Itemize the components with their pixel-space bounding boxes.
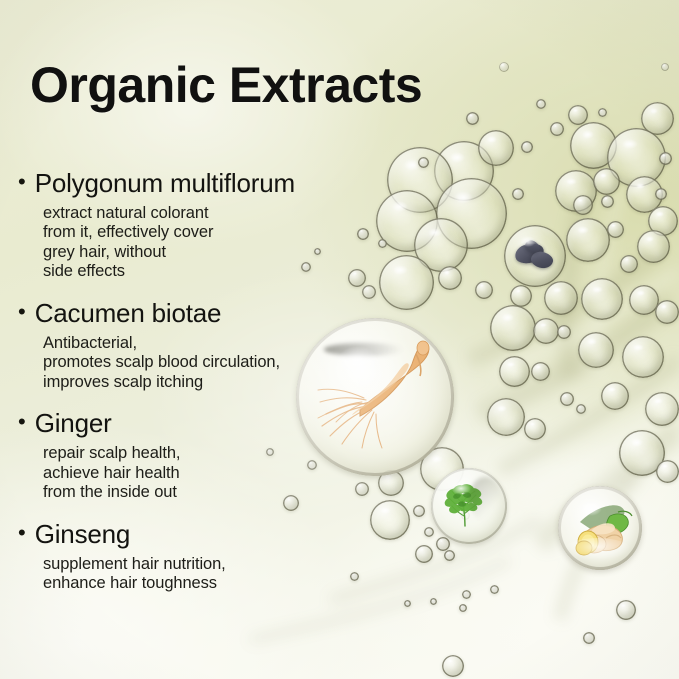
- bubble: [379, 255, 434, 310]
- bubble: [370, 500, 410, 540]
- bubble: [362, 285, 376, 299]
- ginger-specimen: [558, 486, 642, 570]
- description-line: supplement hair nutrition,: [43, 555, 348, 574]
- description-line: repair scalp health,: [43, 444, 348, 463]
- bubble: [655, 300, 679, 324]
- description-line: from the inside out: [43, 483, 348, 502]
- bubble: [661, 63, 669, 71]
- cacumen-biotae-bubble: [431, 468, 507, 544]
- bubble: [620, 255, 638, 273]
- bubble: [512, 188, 524, 200]
- extract-heading: • Cacumen biotae: [18, 298, 348, 329]
- bubble: [442, 655, 464, 677]
- ginger-root-bubble: [558, 486, 642, 570]
- description-line: side effects: [43, 262, 348, 281]
- page-title: Organic Extracts: [30, 56, 422, 114]
- bubble: [659, 152, 672, 165]
- extract-heading: • Ginseng: [18, 519, 348, 550]
- bubble: [583, 632, 595, 644]
- bubble: [490, 585, 499, 594]
- bubble: [466, 112, 479, 125]
- description-line: improves scalp itching: [43, 373, 348, 392]
- bubble: [378, 239, 387, 248]
- bubble: [550, 122, 564, 136]
- bubble: [531, 362, 550, 381]
- bubble: [418, 157, 429, 168]
- bubble: [499, 62, 509, 72]
- bubble: [560, 392, 574, 406]
- bubble: [348, 269, 366, 287]
- bullet-icon: •: [18, 301, 26, 323]
- description-line: enhance hair toughness: [43, 574, 348, 593]
- extract-description: Antibacterial, promotes scalp blood circ…: [43, 334, 348, 392]
- bubble: [430, 598, 437, 605]
- bubble: [573, 195, 593, 215]
- bubble: [413, 505, 425, 517]
- bubble: [475, 281, 493, 299]
- extract-item-ginseng: • Ginseng supplement hair nutrition, enh…: [18, 519, 348, 594]
- description-line: achieve hair health: [43, 464, 348, 483]
- extract-item-cacumen-biotae: • Cacumen biotae Antibacterial, promotes…: [18, 298, 348, 392]
- bubble: [438, 266, 462, 290]
- bubble: [645, 392, 679, 426]
- bubble: [355, 482, 369, 496]
- cacumen-biotae-specimen: [431, 468, 507, 544]
- bubble: [521, 141, 533, 153]
- extract-title: Polygonum multiflorum: [35, 168, 295, 199]
- bubble: [444, 550, 455, 561]
- extract-description: extract natural colorant from it, effect…: [43, 204, 348, 282]
- extract-description: supplement hair nutrition, enhance hair …: [43, 555, 348, 594]
- bubble: [622, 336, 664, 378]
- bubble: [566, 218, 610, 262]
- bubble: [601, 195, 614, 208]
- bubble: [510, 285, 532, 307]
- description-line: grey hair, without: [43, 243, 348, 262]
- bullet-icon: •: [18, 411, 26, 433]
- polygonum-root-bubble: [504, 225, 566, 287]
- organic-extracts-poster: Organic Extracts • Polygonum multiflorum…: [0, 0, 679, 679]
- bubble: [487, 398, 525, 436]
- bubble: [533, 318, 559, 344]
- bubble: [616, 600, 636, 620]
- extract-title: Ginseng: [35, 519, 130, 550]
- bubble: [350, 572, 359, 581]
- bubble: [576, 404, 586, 414]
- bubble: [557, 325, 571, 339]
- extract-title: Cacumen biotae: [35, 298, 222, 329]
- bubble: [490, 305, 536, 351]
- bubble: [578, 332, 614, 368]
- extract-heading: • Ginger: [18, 408, 348, 439]
- description-line: promotes scalp blood circulation,: [43, 353, 348, 372]
- bubble: [655, 188, 667, 200]
- bubble: [404, 600, 411, 607]
- description-line: extract natural colorant: [43, 204, 348, 223]
- ginger-bubble-highlight: [565, 538, 631, 560]
- bubble: [544, 281, 578, 315]
- bubble: [656, 460, 679, 483]
- bullet-icon: •: [18, 522, 26, 544]
- polygonum-specimen: [504, 225, 566, 287]
- extract-item-ginger: • Ginger repair scalp health, achieve ha…: [18, 408, 348, 502]
- bubble: [499, 356, 530, 387]
- bullet-icon: •: [18, 171, 26, 193]
- bubble: [581, 278, 623, 320]
- bubble: [357, 228, 369, 240]
- bubble: [462, 590, 471, 599]
- bubble: [478, 130, 514, 166]
- extract-title: Ginger: [35, 408, 112, 439]
- description-line: Antibacterial,: [43, 334, 348, 353]
- bubble: [593, 168, 620, 195]
- bubble: [459, 604, 467, 612]
- bubble: [536, 99, 546, 109]
- bubble: [637, 230, 670, 263]
- bubble: [568, 105, 588, 125]
- bubble: [598, 108, 607, 117]
- bubble: [601, 382, 629, 410]
- bubble: [524, 418, 546, 440]
- description-line: from it, effectively cover: [43, 223, 348, 242]
- extract-item-polygonum: • Polygonum multiflorum extract natural …: [18, 168, 348, 282]
- extract-description: repair scalp health, achieve hair health…: [43, 444, 348, 502]
- extract-list: • Polygonum multiflorum extract natural …: [18, 168, 348, 610]
- bubble: [607, 221, 624, 238]
- extract-heading: • Polygonum multiflorum: [18, 168, 348, 199]
- bubble: [415, 545, 433, 563]
